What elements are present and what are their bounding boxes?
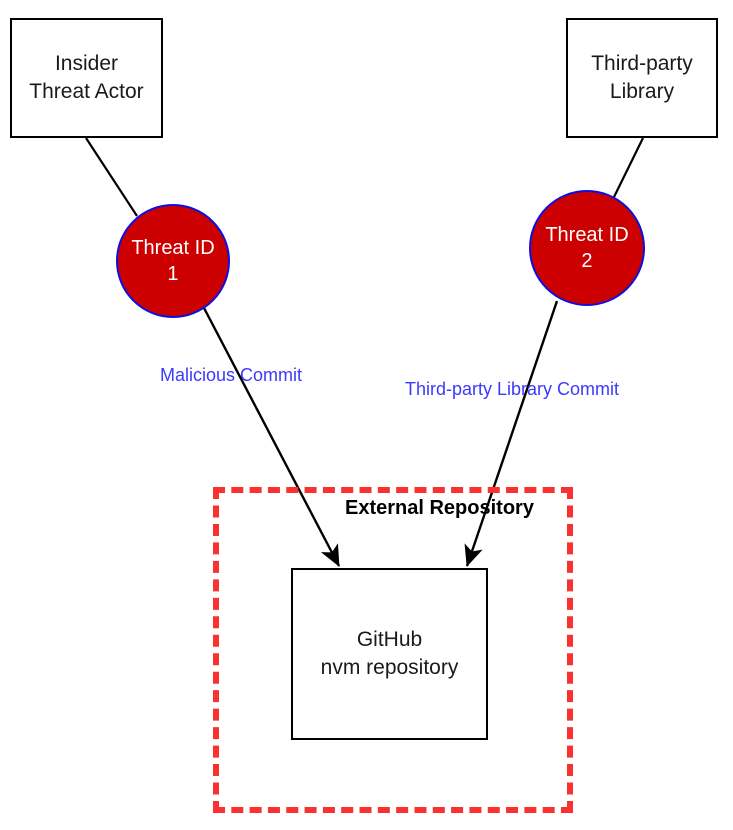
threat-diagram-canvas: External Repository Insider Threat Actor… (0, 0, 733, 830)
insider-threat-actor-label: Insider Threat Actor (29, 50, 143, 105)
edge-library-to-threat-2 (614, 138, 643, 197)
insider-threat-actor-box[interactable]: Insider Threat Actor (10, 18, 163, 138)
third-party-library-label: Third-party Library (591, 50, 693, 105)
threat-id-1-label: Threat ID 1 (131, 235, 214, 287)
github-nvm-repository-label: GitHub nvm repository (321, 626, 459, 681)
third-party-library-box[interactable]: Third-party Library (566, 18, 718, 138)
external-repository-label: External Repository (345, 497, 534, 520)
threat-id-2-label: Threat ID 2 (545, 222, 628, 274)
edge-insider-to-threat-1 (86, 138, 137, 216)
edge-label-third-party-library-commit: Third-party Library Commit (405, 379, 619, 400)
edge-label-malicious-commit: Malicious Commit (160, 365, 302, 386)
threat-id-2-circle[interactable]: Threat ID 2 (529, 190, 645, 306)
github-nvm-repository-box[interactable]: GitHub nvm repository (291, 568, 488, 740)
threat-id-1-circle[interactable]: Threat ID 1 (116, 204, 230, 318)
